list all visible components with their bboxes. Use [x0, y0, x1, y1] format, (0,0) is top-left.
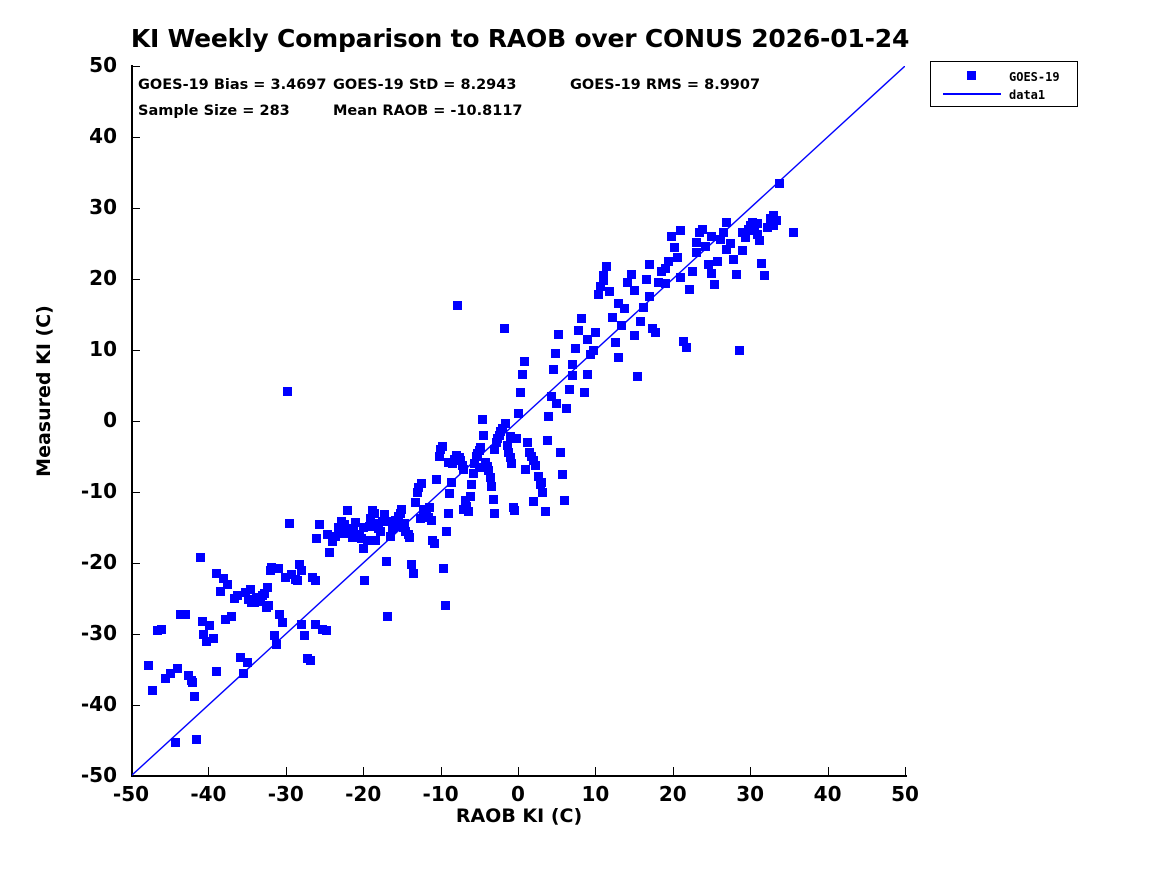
y-tick-mark [131, 421, 140, 422]
scatter-point [409, 569, 418, 578]
x-tick-label: -20 [323, 782, 403, 806]
x-tick-label: -50 [91, 782, 171, 806]
scatter-point [475, 463, 484, 472]
scatter-point [554, 330, 563, 339]
y-tick-label: -40 [47, 692, 117, 716]
y-tick-label: -30 [47, 621, 117, 645]
scatter-point [630, 286, 639, 295]
scatter-point [614, 353, 623, 362]
scatter-point [558, 470, 567, 479]
scatter-point [264, 601, 273, 610]
x-tick-mark [208, 767, 209, 776]
legend-box: GOES-19 data1 [930, 61, 1078, 107]
y-tick-label: -10 [47, 479, 117, 503]
scatter-point [789, 228, 798, 237]
scatter-point [263, 583, 272, 592]
scatter-point [489, 495, 498, 504]
scatter-point [196, 553, 205, 562]
scatter-point [382, 557, 391, 566]
scatter-point [692, 238, 701, 247]
y-tick-mark [131, 350, 140, 351]
scatter-point [407, 560, 416, 569]
scatter-point [430, 539, 439, 548]
scatter-point [487, 482, 496, 491]
legend-marker-square [967, 71, 976, 80]
scatter-point [444, 509, 453, 518]
y-tick-mark [131, 705, 140, 706]
y-tick-mark [131, 776, 140, 777]
scatter-point [755, 236, 764, 245]
scatter-point [583, 370, 592, 379]
scatter-point [371, 536, 380, 545]
scatter-point [205, 621, 214, 630]
scatter-point [311, 576, 320, 585]
plot-area [131, 66, 905, 776]
scatter-point [544, 412, 553, 421]
scatter-point [439, 564, 448, 573]
scatter-point [667, 232, 676, 241]
scatter-point [442, 527, 451, 536]
x-tick-label: 0 [478, 782, 558, 806]
y-tick-label: 30 [47, 195, 117, 219]
scatter-point [688, 267, 697, 276]
scatter-point [387, 517, 396, 526]
scatter-point [173, 664, 182, 673]
scatter-point [243, 658, 252, 667]
scatter-point [707, 232, 716, 241]
scatter-point [701, 242, 710, 251]
scatter-point [360, 576, 369, 585]
scatter-point [568, 360, 577, 369]
scatter-point [521, 465, 530, 474]
y-tick-label: -20 [47, 550, 117, 574]
scatter-point [239, 669, 248, 678]
scatter-point [223, 580, 232, 589]
scatter-point [611, 338, 620, 347]
scatter-point [323, 530, 332, 539]
scatter-point [753, 219, 762, 228]
scatter-point [297, 566, 306, 575]
scatter-point [192, 735, 201, 744]
scatter-point [520, 357, 529, 366]
scatter-point [417, 479, 426, 488]
scatter-point [529, 497, 538, 506]
scatter-point [445, 489, 454, 498]
scatter-point [467, 480, 476, 489]
x-tick-label: 10 [555, 782, 635, 806]
scatter-point [274, 564, 283, 573]
scatter-point [732, 270, 741, 279]
scatter-point [577, 314, 586, 323]
scatter-point [642, 275, 651, 284]
scatter-point [760, 271, 769, 280]
scatter-point [738, 228, 747, 237]
scatter-point [432, 475, 441, 484]
scatter-point [278, 618, 287, 627]
scatter-point [735, 346, 744, 355]
y-tick-mark [131, 563, 140, 564]
scatter-point [722, 218, 731, 227]
scatter-point [212, 667, 221, 676]
scatter-point [602, 262, 611, 271]
scatter-point [562, 404, 571, 413]
scatter-point [676, 273, 685, 282]
scatter-point [209, 634, 218, 643]
y-axis-label: Measured KI (C) [33, 271, 55, 511]
x-tick-label: 40 [788, 782, 868, 806]
y-tick-label: 0 [47, 408, 117, 432]
chart-figure: KI Weekly Comparison to RAOB over CONUS … [0, 0, 1167, 875]
scatter-point [252, 594, 261, 603]
scatter-point [661, 264, 670, 273]
legend-label-goes19: GOES-19 [1009, 70, 1060, 84]
scatter-point [713, 257, 722, 266]
scatter-point [500, 324, 509, 333]
x-tick-mark [673, 767, 674, 776]
legend-label-data1: data1 [1009, 88, 1045, 102]
x-tick-mark [518, 767, 519, 776]
scatter-point [490, 509, 499, 518]
scatter-point [283, 387, 292, 396]
scatter-point [339, 529, 348, 538]
scatter-point [383, 612, 392, 621]
scatter-point [574, 326, 583, 335]
scatter-point [315, 520, 324, 529]
legend-line-swatch [943, 93, 1001, 95]
scatter-point [490, 445, 499, 454]
y-tick-mark [131, 66, 140, 67]
scatter-point [685, 285, 694, 294]
scatter-point [306, 656, 315, 665]
x-tick-mark [131, 767, 132, 776]
scatter-point [514, 409, 523, 418]
scatter-point [285, 519, 294, 528]
scatter-point [692, 248, 701, 257]
scatter-point [501, 419, 510, 428]
scatter-point [516, 388, 525, 397]
y-tick-mark [131, 208, 140, 209]
scatter-point [589, 346, 598, 355]
x-tick-label: 20 [633, 782, 713, 806]
x-tick-label: -30 [246, 782, 326, 806]
scatter-point [560, 496, 569, 505]
y-tick-mark [131, 279, 140, 280]
scatter-point [645, 292, 654, 301]
scatter-point [438, 442, 447, 451]
scatter-point [425, 503, 434, 512]
scatter-point [312, 534, 321, 543]
scatter-point [738, 246, 747, 255]
scatter-point [605, 287, 614, 296]
scatter-point [651, 328, 660, 337]
scatter-point [565, 385, 574, 394]
scatter-point [599, 276, 608, 285]
scatter-point [549, 365, 558, 374]
scatter-point [608, 313, 617, 322]
scatter-point [270, 631, 279, 640]
scatter-point [510, 506, 519, 515]
scatter-point [190, 692, 199, 701]
scatter-point [627, 270, 636, 279]
scatter-point [311, 620, 320, 629]
x-tick-label: 30 [710, 782, 790, 806]
x-tick-mark [363, 767, 364, 776]
scatter-point [537, 478, 546, 487]
scatter-point [300, 631, 309, 640]
scatter-point [416, 514, 425, 523]
scatter-point [144, 661, 153, 670]
scatter-point [698, 225, 707, 234]
x-tick-mark [905, 767, 906, 776]
x-tick-label: -40 [168, 782, 248, 806]
scatter-point [633, 372, 642, 381]
scatter-point [444, 458, 453, 467]
scatter-point [453, 301, 462, 310]
scatter-point [682, 343, 691, 352]
y-tick-mark [131, 634, 140, 635]
x-tick-mark [828, 767, 829, 776]
scatter-point [221, 615, 230, 624]
scatter-point [506, 432, 515, 441]
scatter-point [343, 506, 352, 515]
y-tick-mark [131, 137, 140, 138]
scatter-point [427, 516, 436, 525]
scatter-point [322, 626, 331, 635]
scatter-point [297, 620, 306, 629]
scatter-point [400, 519, 409, 528]
scatter-point [507, 459, 516, 468]
scatter-point [523, 438, 532, 447]
scatter-point [594, 290, 603, 299]
scatter-point [478, 415, 487, 424]
scatter-point [552, 399, 561, 408]
scatter-point [293, 576, 302, 585]
page-title: KI Weekly Comparison to RAOB over CONUS … [0, 24, 1040, 53]
scatter-point [551, 349, 560, 358]
x-tick-mark [595, 767, 596, 776]
scatter-point [614, 299, 623, 308]
y-tick-label: 40 [47, 124, 117, 148]
scatter-point [630, 331, 639, 340]
x-tick-label: -10 [401, 782, 481, 806]
scatter-point [148, 686, 157, 695]
scatter-point [707, 269, 716, 278]
scatter-point [181, 610, 190, 619]
scatter-point [459, 465, 468, 474]
x-tick-mark [441, 767, 442, 776]
scatter-point [348, 533, 357, 542]
scatter-point [359, 523, 368, 532]
scatter-point [397, 505, 406, 514]
scatter-point [447, 478, 456, 487]
scatter-point [568, 371, 577, 380]
scatter-point [531, 461, 540, 470]
scatter-point [636, 317, 645, 326]
scatter-point [556, 448, 565, 457]
scatter-point [583, 335, 592, 344]
scatter-point [405, 533, 414, 542]
scatter-point [729, 255, 738, 264]
scatter-point [775, 179, 784, 188]
scatter-point [272, 640, 281, 649]
scatter-point [571, 344, 580, 353]
scatter-point [359, 544, 368, 553]
y-tick-label: 10 [47, 337, 117, 361]
scatter-point [719, 228, 728, 237]
scatter-point [212, 569, 221, 578]
x-tick-mark [286, 767, 287, 776]
scatter-point [580, 388, 589, 397]
scatter-point [673, 253, 682, 262]
scatter-point [325, 548, 334, 557]
scatter-point [188, 678, 197, 687]
x-tick-mark [750, 767, 751, 776]
scatter-point [518, 370, 527, 379]
scatter-point [538, 488, 547, 497]
scatter-point [466, 492, 475, 501]
y-tick-label: 20 [47, 266, 117, 290]
scatter-point [441, 601, 450, 610]
scatter-points-layer [131, 66, 905, 776]
scatter-point [661, 279, 670, 288]
scatter-point [676, 226, 685, 235]
scatter-point [670, 243, 679, 252]
scatter-point [476, 443, 485, 452]
scatter-point [769, 221, 778, 230]
scatter-point [617, 321, 626, 330]
scatter-point [198, 617, 207, 626]
scatter-point [722, 245, 731, 254]
scatter-point [757, 259, 766, 268]
scatter-point [645, 260, 654, 269]
scatter-point [171, 738, 180, 747]
x-axis-label: RAOB KI (C) [0, 805, 1038, 827]
scatter-point [541, 507, 550, 516]
scatter-point [543, 436, 552, 445]
scatter-point [459, 505, 468, 514]
scatter-point [639, 303, 648, 312]
scatter-point [591, 328, 600, 337]
y-tick-label: 50 [47, 53, 117, 77]
x-tick-label: 50 [865, 782, 945, 806]
scatter-point [157, 625, 166, 634]
scatter-point [710, 280, 719, 289]
y-tick-mark [131, 492, 140, 493]
scatter-point [479, 431, 488, 440]
